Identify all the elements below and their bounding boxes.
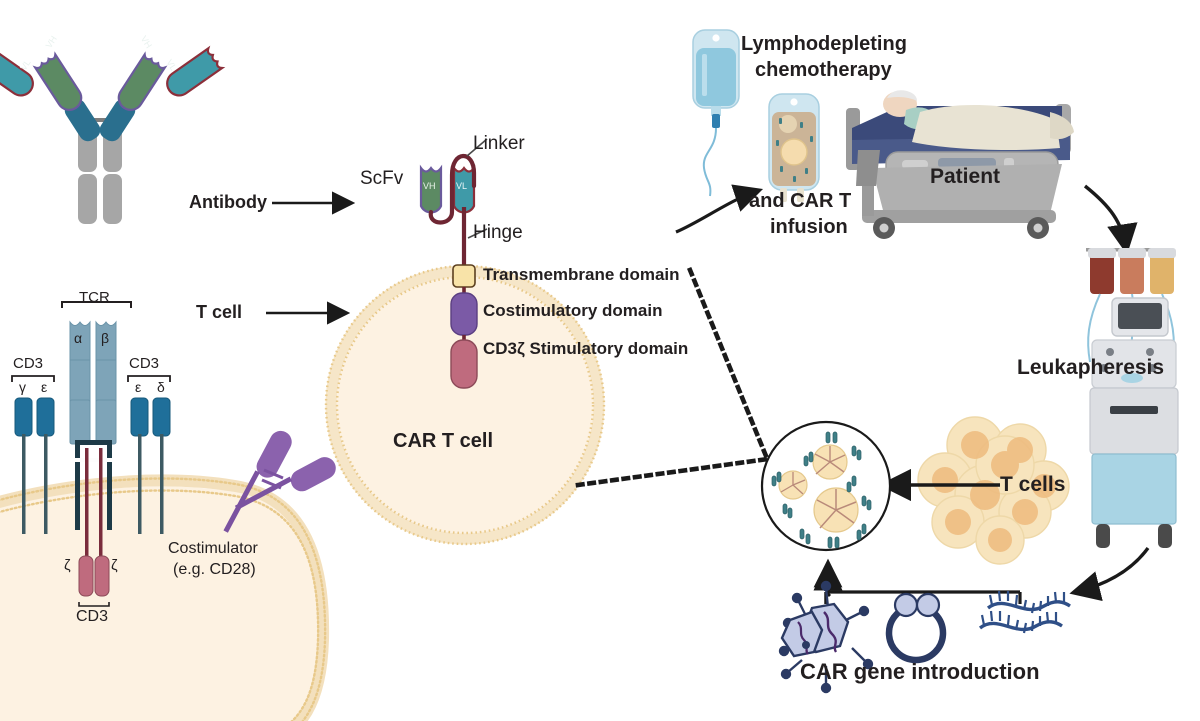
mrna-icon xyxy=(980,591,1070,633)
transduction-circle xyxy=(762,422,890,550)
gene-introduction-label: CAR gene introduction xyxy=(800,660,1040,685)
transduced-cell-3 xyxy=(814,488,858,532)
plasmid-icon xyxy=(889,594,943,660)
tcells-label: T cells xyxy=(1000,473,1065,497)
gene-introduction-illustration xyxy=(0,0,1200,721)
transduced-cell-2 xyxy=(779,471,807,499)
transduced-cell-1 xyxy=(813,445,847,479)
diagram-canvas: VH VL VH VL xyxy=(0,0,1200,721)
